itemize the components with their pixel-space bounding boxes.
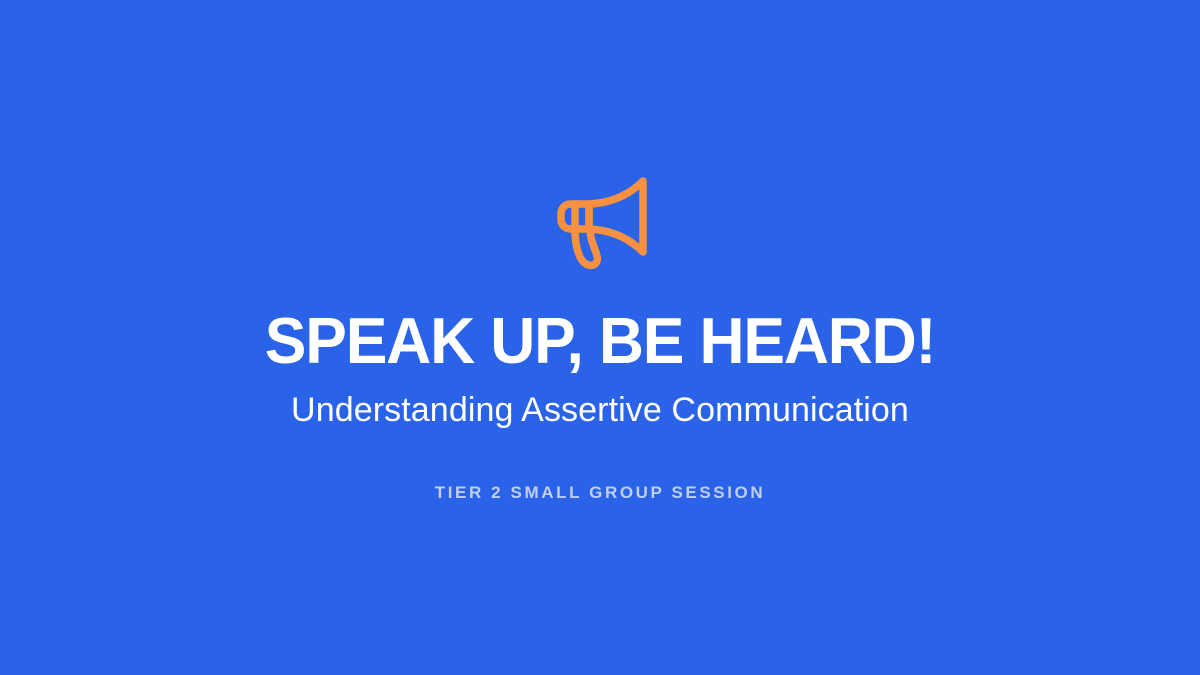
title-slide: SPEAK UP, BE HEARD! Understanding Assert… bbox=[0, 0, 1200, 675]
subtitle: Understanding Assertive Communication bbox=[0, 390, 1200, 431]
megaphone-icon bbox=[545, 168, 655, 273]
session-label: TIER 2 SMALL GROUP SESSION bbox=[0, 483, 1200, 503]
page-title: SPEAK UP, BE HEARD! bbox=[24, 308, 1176, 373]
